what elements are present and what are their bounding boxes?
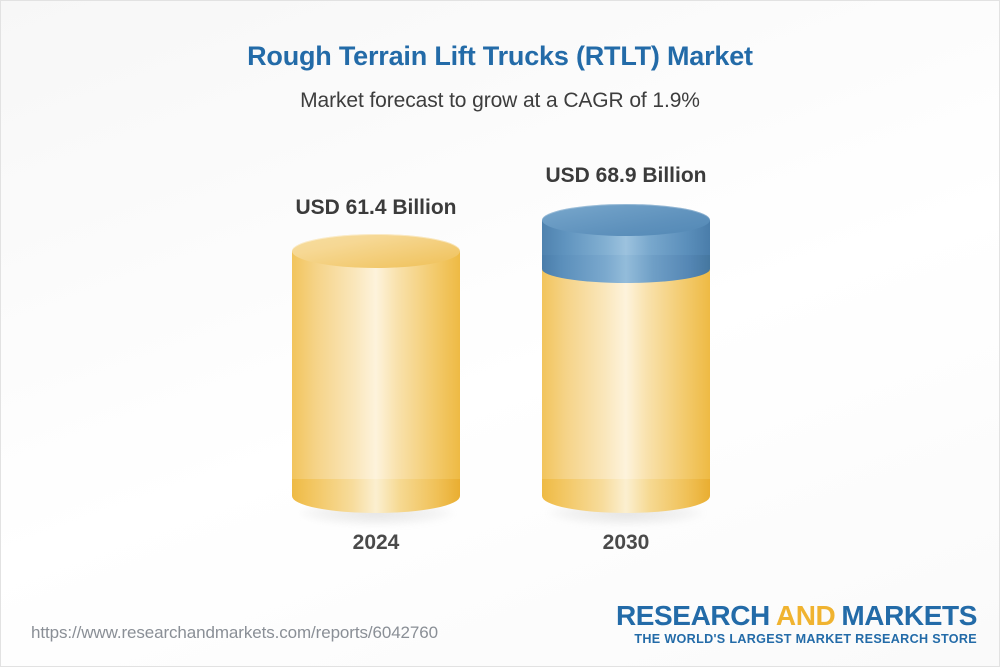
cylinder-body-gold — [542, 256, 710, 496]
cylinder-bottom-edge — [542, 479, 710, 513]
logo-wordmark: RESEARCHANDMARKETS — [616, 601, 977, 630]
chart-plot-area: USD 61.4 Billion 2024 USD 68.9 Billion — [1, 1, 1000, 601]
cylinder-body-gold — [292, 251, 460, 496]
cylinder-2030[interactable] — [542, 204, 710, 513]
chart-canvas: Rough Terrain Lift Trucks (RTLT) Market … — [0, 0, 1000, 667]
report-url[interactable]: https://www.researchandmarkets.com/repor… — [31, 623, 438, 643]
cylinder-top-cap-gold — [292, 234, 460, 268]
researchandmarkets-logo[interactable]: RESEARCHANDMARKETS THE WORLD'S LARGEST M… — [616, 601, 977, 646]
logo-tagline: THE WORLD'S LARGEST MARKET RESEARCH STOR… — [616, 632, 977, 646]
bar-category-label-2030: 2030 — [482, 531, 770, 555]
logo-word-markets: MARKETS — [841, 600, 977, 631]
logo-word-research: RESEARCH — [616, 600, 770, 631]
cylinder-2024[interactable] — [292, 234, 460, 513]
bar-value-label-2030: USD 68.9 Billion — [482, 164, 770, 188]
bar-value-label-2024: USD 61.4 Billion — [232, 196, 520, 220]
logo-word-and: AND — [776, 600, 835, 631]
bar-category-label-2024: 2024 — [232, 531, 520, 555]
cylinder-top-cap-blue — [542, 204, 710, 236]
cylinder-segment-blue-bottom-edge — [542, 255, 710, 283]
cylinder-bottom-edge — [292, 479, 460, 513]
